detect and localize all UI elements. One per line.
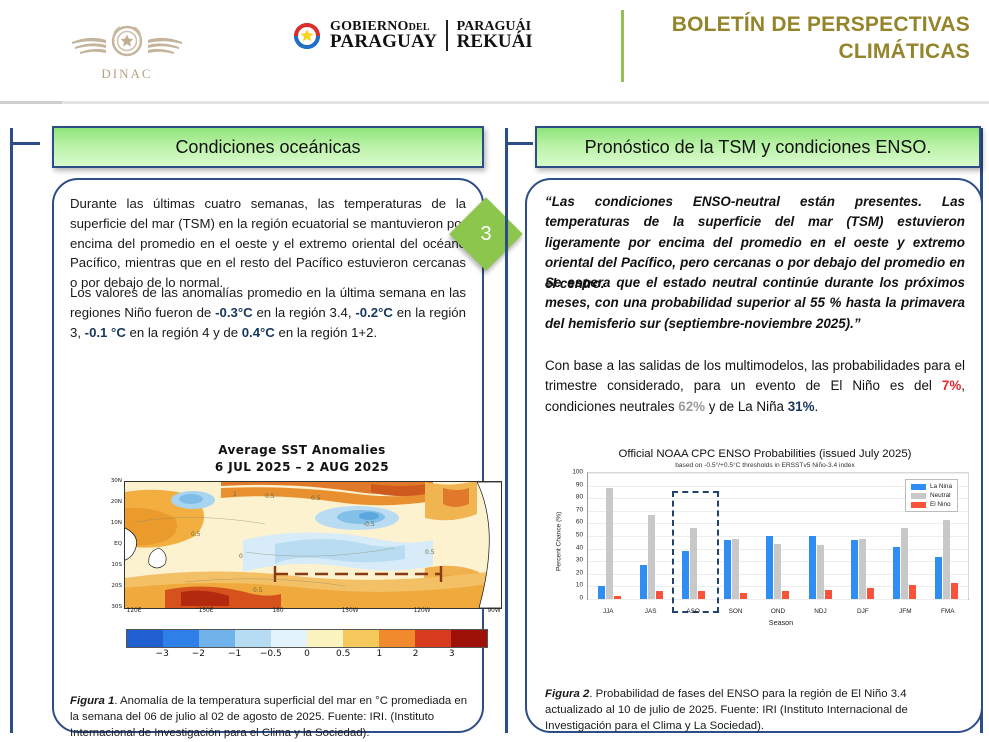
colorbar-swatch — [127, 630, 163, 647]
dinac-logo: DINAC — [62, 0, 192, 101]
enso-y-axis-ticks: 0102030405060708090100 — [565, 472, 585, 598]
sst-figure-title: Average SST Anomalies 6 JUL 2025 – 2 AUG… — [102, 442, 502, 475]
colorbar-swatch — [379, 630, 415, 647]
sst-map-plot: 1 0.5 0.5 -0.5 0.5 0 0.5 0.5 — [124, 481, 502, 609]
enso-x-tick: JFM — [899, 608, 911, 615]
prob-la-nina: 31% — [788, 399, 815, 414]
enso-chart-title: Official NOAA CPC ENSO Probabilities (is… — [555, 448, 975, 460]
enso-x-tick: ASO — [686, 608, 700, 615]
header-rule — [0, 101, 989, 104]
svg-text:0: 0 — [239, 553, 243, 560]
gov-emblem-icon — [293, 22, 321, 50]
sst-colorbar-ticks: −3−2−1−0.500.5123 — [126, 649, 488, 662]
enso-x-tick: OND — [771, 608, 785, 615]
enso-y-tick: 80 — [576, 494, 583, 501]
enso-x-axis-ticks: JJAJASASOSONONDNDJDJFJFMFMA — [587, 608, 969, 619]
enso-plot-area: Percent Chance (%) 010203040506070809010… — [555, 472, 975, 608]
bulletin-page: DINAC GOBIERNODEL PARAGUAY PA — [0, 0, 989, 733]
enso-y-tick: 20 — [576, 569, 583, 576]
gobierno-paraguay-logo: GOBIERNODEL PARAGUAY PARAGUÁI REKUÁI — [293, 20, 533, 51]
gov-line2: PARAGUAY — [330, 33, 437, 51]
left-content-card: Durante las últimas cuatro semanas, las … — [52, 178, 484, 733]
figura1-label: Figura 1 — [70, 695, 114, 707]
enso-bar — [766, 536, 773, 599]
svg-text:-0.5: -0.5 — [363, 521, 375, 528]
enso-bar — [851, 540, 858, 599]
colorbar-swatch — [343, 630, 379, 647]
sst-x-tick: 150W — [342, 608, 359, 614]
enso-bar — [901, 528, 908, 599]
page-title: BOLETÍN DE PERSPECTIVAS CLIMÁTICAS — [645, 12, 970, 66]
left-figure-caption: Figura 1. Anomalía de la temperatura sup… — [70, 693, 470, 742]
gov-right-line2: REKUÁI — [457, 33, 533, 51]
wings-emblem-icon — [67, 20, 187, 64]
sst-map-wrapper: 30N20N10NEQ10S20S30S — [102, 481, 502, 607]
svg-text:0.5: 0.5 — [265, 493, 275, 500]
dinac-label: DINAC — [101, 66, 152, 82]
colorbar-swatch — [199, 630, 235, 647]
enso-x-tick: JJA — [603, 608, 614, 615]
sst-y-tick: 30S — [111, 604, 122, 610]
enso-y-tick: 30 — [576, 557, 583, 564]
prob-neutral: 62% — [678, 399, 705, 414]
legend-item-neutral: Neutral — [911, 492, 952, 499]
enso-bar — [724, 540, 731, 599]
anomaly-nino34: -0.3°C — [215, 305, 253, 320]
colorbar-tick: −1 — [228, 649, 241, 659]
header-rule-left — [0, 101, 62, 104]
legend-item-la-nina: La Nina — [911, 483, 952, 490]
svg-text:0.5: 0.5 — [191, 531, 201, 538]
enso-y-tick: 60 — [576, 519, 583, 526]
enso-x-tick: JAS — [645, 608, 657, 615]
enso-bar-group — [799, 473, 841, 599]
enso-quote-paragraph-2: Se espera que el estado neutral continúe… — [545, 273, 965, 334]
left-p2-part-e: en la región 1+2. — [275, 325, 377, 340]
right-figure-caption: Figura 2. Probabilidad de fases del ENSO… — [545, 686, 963, 735]
page-header: DINAC GOBIERNODEL PARAGUAY PA — [0, 0, 989, 104]
sst-y-tick: 20N — [111, 499, 122, 505]
enso-bar — [817, 545, 824, 599]
colorbar-tick: −2 — [192, 649, 205, 659]
header-divider — [621, 10, 624, 82]
enso-bar — [951, 583, 958, 599]
enso-bar — [825, 590, 832, 599]
sst-x-axis-ticks: 120E150E180150W120W90W — [124, 607, 502, 619]
enso-x-tick: DJF — [857, 608, 869, 615]
anomaly-nino12: 0.4°C — [242, 325, 275, 340]
enso-y-tick: 70 — [576, 506, 583, 513]
right-banner-label: Pronóstico de la TSM y condiciones ENSO. — [585, 137, 932, 158]
enso-bar — [598, 586, 605, 599]
sst-anomaly-figure: Average SST Anomalies 6 JUL 2025 – 2 AUG… — [102, 442, 502, 677]
enso-bar — [656, 591, 663, 599]
enso-bar — [774, 544, 781, 599]
enso-bar-group — [588, 473, 630, 599]
sst-title-line1: Average SST Anomalies — [102, 442, 502, 459]
enso-y-tick: 100 — [572, 469, 583, 476]
svg-text:1: 1 — [233, 491, 237, 498]
sst-y-tick: EQ — [114, 541, 122, 547]
legend-item-el-nino: El Nino — [911, 501, 952, 508]
enso-bar-group — [757, 473, 799, 599]
figura2-text: . Probabilidad de fases del ENSO para la… — [545, 688, 908, 732]
enso-bar — [867, 588, 874, 599]
enso-bar — [859, 539, 866, 599]
enso-bar — [809, 536, 816, 599]
enso-bar — [614, 596, 621, 599]
enso-bar — [909, 585, 916, 599]
enso-highlight-box — [672, 491, 718, 613]
colorbar-tick: −0.5 — [260, 649, 282, 659]
colorbar-tick: 0 — [304, 649, 310, 659]
svg-text:0.5: 0.5 — [253, 587, 263, 594]
svg-text:0.5: 0.5 — [425, 549, 435, 556]
enso-bar — [648, 515, 655, 599]
legend-label-la-nina: La Nina — [930, 483, 952, 490]
right-section-banner: Pronóstico de la TSM y condiciones ENSO. — [535, 126, 981, 168]
enso-bar — [782, 591, 789, 599]
enso-probabilities-paragraph: Con base a las salidas de los multimodel… — [545, 356, 965, 417]
enso-axes: La Nina Neutral El Nino — [587, 472, 969, 600]
figura2-label: Figura 2 — [545, 688, 589, 700]
prob-part-d: . — [815, 399, 819, 414]
sst-colorbar — [126, 629, 488, 648]
colorbar-tick: 1 — [377, 649, 383, 659]
colorbar-swatch — [307, 630, 343, 647]
sst-y-axis-ticks: 30N20N10NEQ10S20S30S — [102, 481, 124, 607]
enso-y-tick: 90 — [576, 481, 583, 488]
enso-bar-group — [630, 473, 672, 599]
sst-y-tick: 10N — [111, 520, 122, 526]
colorbar-swatch — [235, 630, 271, 647]
enso-bar — [893, 547, 900, 599]
sst-y-tick: 30N — [111, 478, 122, 484]
colorbar-tick: 3 — [449, 649, 455, 659]
legend-label-neutral: Neutral — [930, 492, 951, 499]
prob-el-nino: 7% — [942, 378, 961, 393]
gov-divider — [446, 20, 448, 51]
legend-label-el-nino: El Nino — [930, 501, 951, 508]
anomaly-nino3: -0.2°C — [355, 305, 393, 320]
enso-bar — [732, 539, 739, 599]
left-section-banner: Condiciones oceánicas — [52, 126, 484, 168]
enso-legend: La Nina Neutral El Nino — [905, 479, 958, 512]
enso-chart-subtitle: based on -0.5°/+0.5°C thresholds in ERSS… — [555, 462, 975, 469]
enso-x-tick: SON — [729, 608, 743, 615]
enso-bar-group — [715, 473, 757, 599]
enso-bar — [935, 557, 942, 599]
right-content-card: “Las condiciones ENSO-neutral están pres… — [525, 178, 983, 733]
left-paragraph-2: Los valores de las anomalías promedio en… — [70, 283, 466, 342]
enso-gridline — [588, 599, 968, 600]
enso-x-tick: NDJ — [814, 608, 826, 615]
colorbar-tick: 0.5 — [336, 649, 350, 659]
sst-x-tick: 120W — [414, 608, 431, 614]
colorbar-tick: 2 — [413, 649, 419, 659]
enso-x-tick: FMA — [941, 608, 955, 615]
left-p2-part-b: en la región 3.4, — [253, 305, 356, 320]
enso-y-tick: 10 — [576, 582, 583, 589]
left-p2-part-d: en la región 4 y de — [126, 325, 242, 340]
anomaly-nino4: -0.1 °C — [85, 325, 126, 340]
sst-x-tick: 180 — [272, 608, 283, 614]
left-banner-label: Condiciones oceánicas — [175, 137, 360, 158]
sst-y-tick: 20S — [111, 583, 122, 589]
colorbar-swatch — [271, 630, 307, 647]
enso-y-tick: 0 — [579, 595, 583, 602]
colorbar-swatch — [163, 630, 199, 647]
enso-bar-group — [841, 473, 883, 599]
prob-part-a: Con base a las salidas de los multimodel… — [545, 358, 965, 393]
sst-x-tick: 150E — [199, 608, 214, 614]
enso-y-tick: 50 — [576, 532, 583, 539]
enso-bar — [943, 520, 950, 599]
enso-bar — [740, 593, 747, 599]
enso-probabilities-chart: Official NOAA CPC ENSO Probabilities (is… — [555, 448, 975, 638]
colorbar-tick: −3 — [156, 649, 169, 659]
prob-part-c: y de La Niña — [705, 399, 788, 414]
colorbar-swatch — [451, 630, 487, 647]
sst-title-line2: 6 JUL 2025 – 2 AUG 2025 — [102, 459, 502, 476]
sst-x-tick: 90W — [487, 608, 500, 614]
enso-y-axis-label: Percent Chance (%) — [553, 486, 565, 596]
enso-x-axis-label: Season — [587, 618, 975, 627]
enso-y-tick: 40 — [576, 544, 583, 551]
sst-x-tick: 120E — [127, 608, 142, 614]
sst-y-tick: 10S — [111, 562, 122, 568]
svg-text:0.5: 0.5 — [311, 495, 321, 502]
enso-bar — [606, 488, 613, 599]
left-paragraph-1: Durante las últimas cuatro semanas, las … — [70, 194, 466, 293]
enso-bar — [640, 565, 647, 599]
colorbar-swatch — [415, 630, 451, 647]
